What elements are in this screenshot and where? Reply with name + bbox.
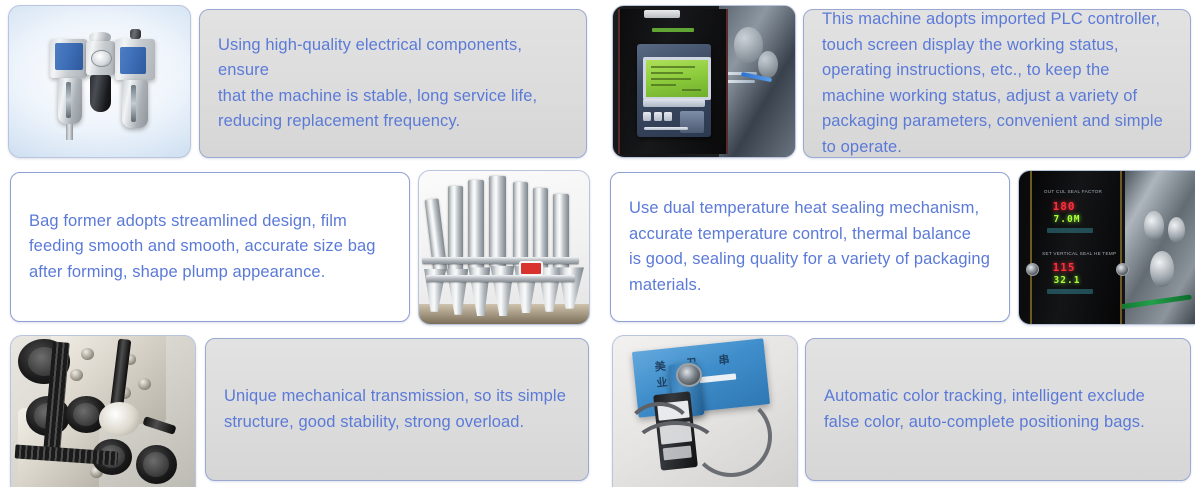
feature-grid: Using high-quality electrical components…	[0, 0, 1195, 487]
feature-card-bag-former: Bag former adopts streamlined design, fi…	[10, 172, 410, 322]
bottom-controller-pv: 115	[1053, 261, 1076, 274]
plc-background-machine	[719, 6, 795, 157]
frl-unit	[31, 27, 172, 142]
feature-text-electrical-components: Using high-quality electrical components…	[200, 33, 586, 135]
feature-card-electrical-components: Using high-quality electrical components…	[199, 9, 587, 158]
plc-device	[637, 44, 711, 137]
bag-former-tubes-photo	[418, 170, 590, 325]
top-controller-pv: 180	[1053, 200, 1076, 213]
top-controller-caption: OUT CUL SEAL FACTOR	[1044, 189, 1102, 194]
feature-text-plc-controller: This machine adopts imported PLC control…	[804, 7, 1179, 160]
feature-card-color-tracking-sensor: Automatic color tracking, intelligent ex…	[805, 338, 1191, 481]
top-controller-sv: 7.0M	[1054, 214, 1081, 225]
sensor-lens	[676, 363, 702, 387]
bottom-controller-caption: SET VERTICAL SEAL HE TEMP	[1042, 251, 1116, 256]
julong-color-mark-sensor-photo: 美 丑 串 业	[612, 335, 798, 487]
door-latch-right	[1116, 263, 1129, 276]
feature-text-color-tracking-sensor: Automatic color tracking, intelligent ex…	[806, 384, 1161, 435]
feature-text-mechanical-transmission: Unique mechanical transmission, so its s…	[206, 384, 582, 435]
controller-door: OUT CUL SEAL FACTOR 180 7.0M SET VERTICA…	[1030, 171, 1122, 324]
temperature-controller-scene: OUT CUL SEAL FACTOR 180 7.0M SET VERTICA…	[1019, 171, 1195, 324]
feature-card-plc-controller: This machine adopts imported PLC control…	[803, 9, 1191, 158]
bag-former-scene	[419, 171, 589, 324]
chain-drive-scene	[11, 336, 195, 487]
dual-temperature-controller-photo: OUT CUL SEAL FACTOR 180 7.0M SET VERTICA…	[1018, 170, 1195, 325]
air-filter-regulator-lubricator-photo	[8, 5, 191, 158]
feature-text-bag-former: Bag former adopts streamlined design, fi…	[11, 209, 392, 286]
plc-screen	[643, 57, 711, 100]
feature-text-dual-temperature-sealing: Use dual temperature heat sealing mechan…	[611, 196, 1006, 298]
chain-drive-transmission-photo	[10, 335, 196, 487]
sensor-scene: 美 丑 串 业	[613, 336, 797, 487]
bottom-controller-sv: 32.1	[1054, 275, 1081, 286]
plc-scene	[613, 6, 795, 157]
feature-card-mechanical-transmission: Unique mechanical transmission, so its s…	[205, 338, 589, 481]
frl-scene	[9, 6, 190, 157]
plc-touch-screen-controller-photo	[612, 5, 796, 158]
door-latch-left	[1026, 263, 1039, 276]
feature-card-dual-temperature-sealing: Use dual temperature heat sealing mechan…	[610, 172, 1010, 322]
plc-panel	[618, 9, 728, 154]
red-tag	[521, 263, 541, 274]
